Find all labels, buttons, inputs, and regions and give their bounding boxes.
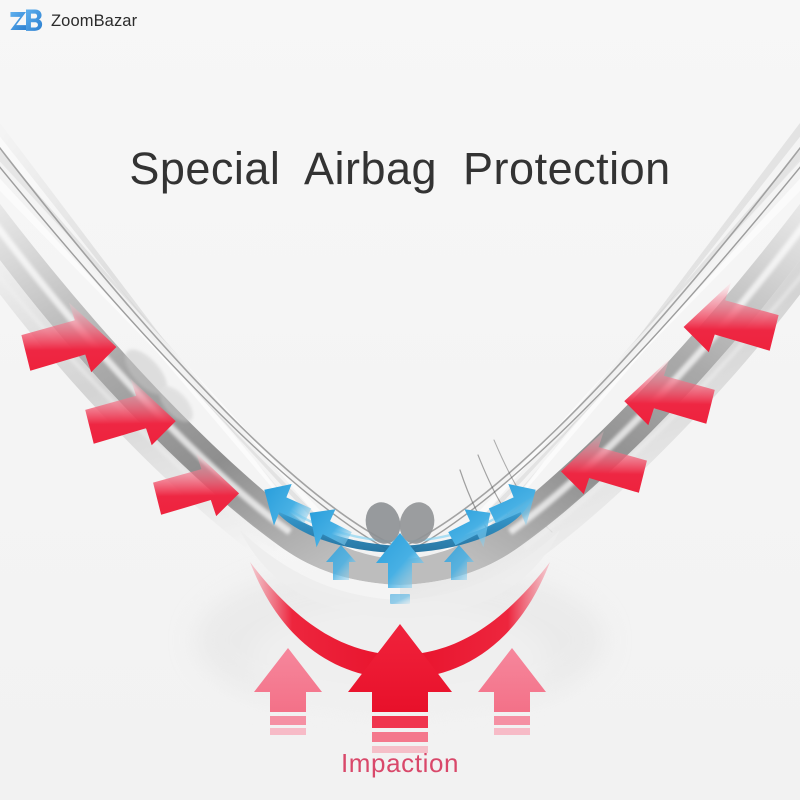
product-infographic: ZoomBazar Special Airbag Protection Impa… (0, 0, 800, 800)
watermark: ZoomBazar (8, 6, 137, 36)
page-title: Special Airbag Protection (0, 143, 800, 195)
watermark-brand: ZoomBazar (51, 12, 137, 31)
case-illustration (0, 0, 800, 800)
impaction-label: Impaction (0, 748, 800, 779)
zoombazar-logo-icon (8, 6, 44, 36)
